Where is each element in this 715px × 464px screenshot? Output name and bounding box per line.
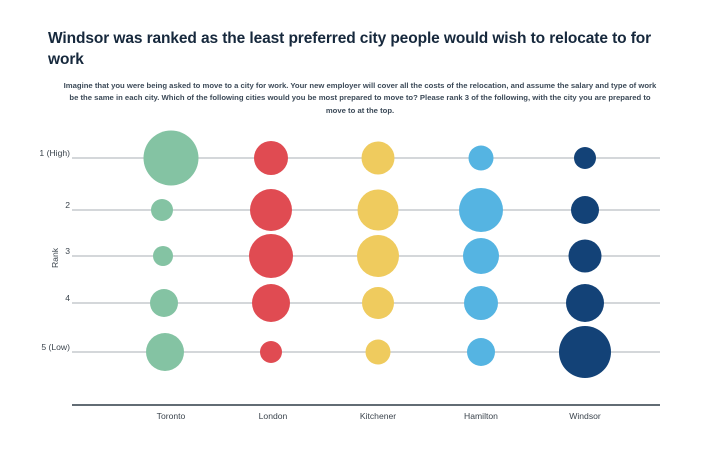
bubble-toronto-rank2[interactable] bbox=[151, 199, 173, 221]
bubble-london-rank2[interactable] bbox=[250, 189, 292, 231]
bubble-hamilton-rank2[interactable] bbox=[459, 188, 503, 232]
xtick-label-hamilton: Hamilton bbox=[464, 411, 498, 421]
bubble-toronto-rank5[interactable] bbox=[146, 333, 184, 371]
xtick-label-london: London bbox=[259, 411, 288, 421]
ytick-label-5: 5 (Low) bbox=[41, 342, 70, 352]
bubble-hamilton-rank1[interactable] bbox=[469, 146, 494, 171]
bubble-windsor-rank1[interactable] bbox=[574, 147, 596, 169]
chart-page: Windsor was ranked as the least preferre… bbox=[0, 0, 715, 464]
bubble-kitchener-rank2[interactable] bbox=[358, 190, 399, 231]
bubble-toronto-rank4[interactable] bbox=[150, 289, 178, 317]
bubble-windsor-rank4[interactable] bbox=[566, 284, 604, 322]
bubble-hamilton-rank3[interactable] bbox=[463, 238, 499, 274]
bubble-london-rank4[interactable] bbox=[252, 284, 290, 322]
chart-svg: 1 (High) 2 3 4 5 (Low) Rank bbox=[0, 0, 715, 464]
bubble-kitchener-rank5[interactable] bbox=[366, 340, 391, 365]
bubble-hamilton-rank4[interactable] bbox=[464, 286, 498, 320]
ytick-label-3: 3 bbox=[65, 246, 70, 256]
bubble-windsor-rank5[interactable] bbox=[559, 326, 611, 378]
y-axis-title: Rank bbox=[50, 247, 60, 268]
bubble-series-london bbox=[249, 141, 293, 363]
ytick-label-2: 2 bbox=[65, 200, 70, 210]
bubble-kitchener-rank1[interactable] bbox=[362, 142, 395, 175]
xtick-label-kitchener: Kitchener bbox=[360, 411, 396, 421]
bubble-london-rank5[interactable] bbox=[260, 341, 282, 363]
bubble-series-hamilton bbox=[459, 146, 503, 367]
bubble-hamilton-rank5[interactable] bbox=[467, 338, 495, 366]
bubble-kitchener-rank3[interactable] bbox=[357, 235, 399, 277]
bubble-chart: 1 (High) 2 3 4 5 (Low) Rank bbox=[0, 0, 715, 464]
ytick-label-4: 4 bbox=[65, 293, 70, 303]
bubble-toronto-rank1[interactable] bbox=[144, 131, 199, 186]
xtick-label-windsor: Windsor bbox=[569, 411, 601, 421]
bubble-windsor-rank2[interactable] bbox=[571, 196, 599, 224]
x-axis-ticks: Toronto London Kitchener Hamilton Windso… bbox=[157, 411, 601, 421]
bubble-series-kitchener bbox=[357, 142, 399, 365]
ytick-label-1: 1 (High) bbox=[39, 148, 70, 158]
bubble-series-windsor bbox=[559, 147, 611, 378]
bubble-london-rank3[interactable] bbox=[249, 234, 293, 278]
bubble-windsor-rank3[interactable] bbox=[569, 240, 602, 273]
bubble-london-rank1[interactable] bbox=[254, 141, 288, 175]
bubble-kitchener-rank4[interactable] bbox=[362, 287, 394, 319]
bubble-toronto-rank3[interactable] bbox=[153, 246, 173, 266]
xtick-label-toronto: Toronto bbox=[157, 411, 186, 421]
bubble-series-toronto bbox=[144, 131, 199, 372]
